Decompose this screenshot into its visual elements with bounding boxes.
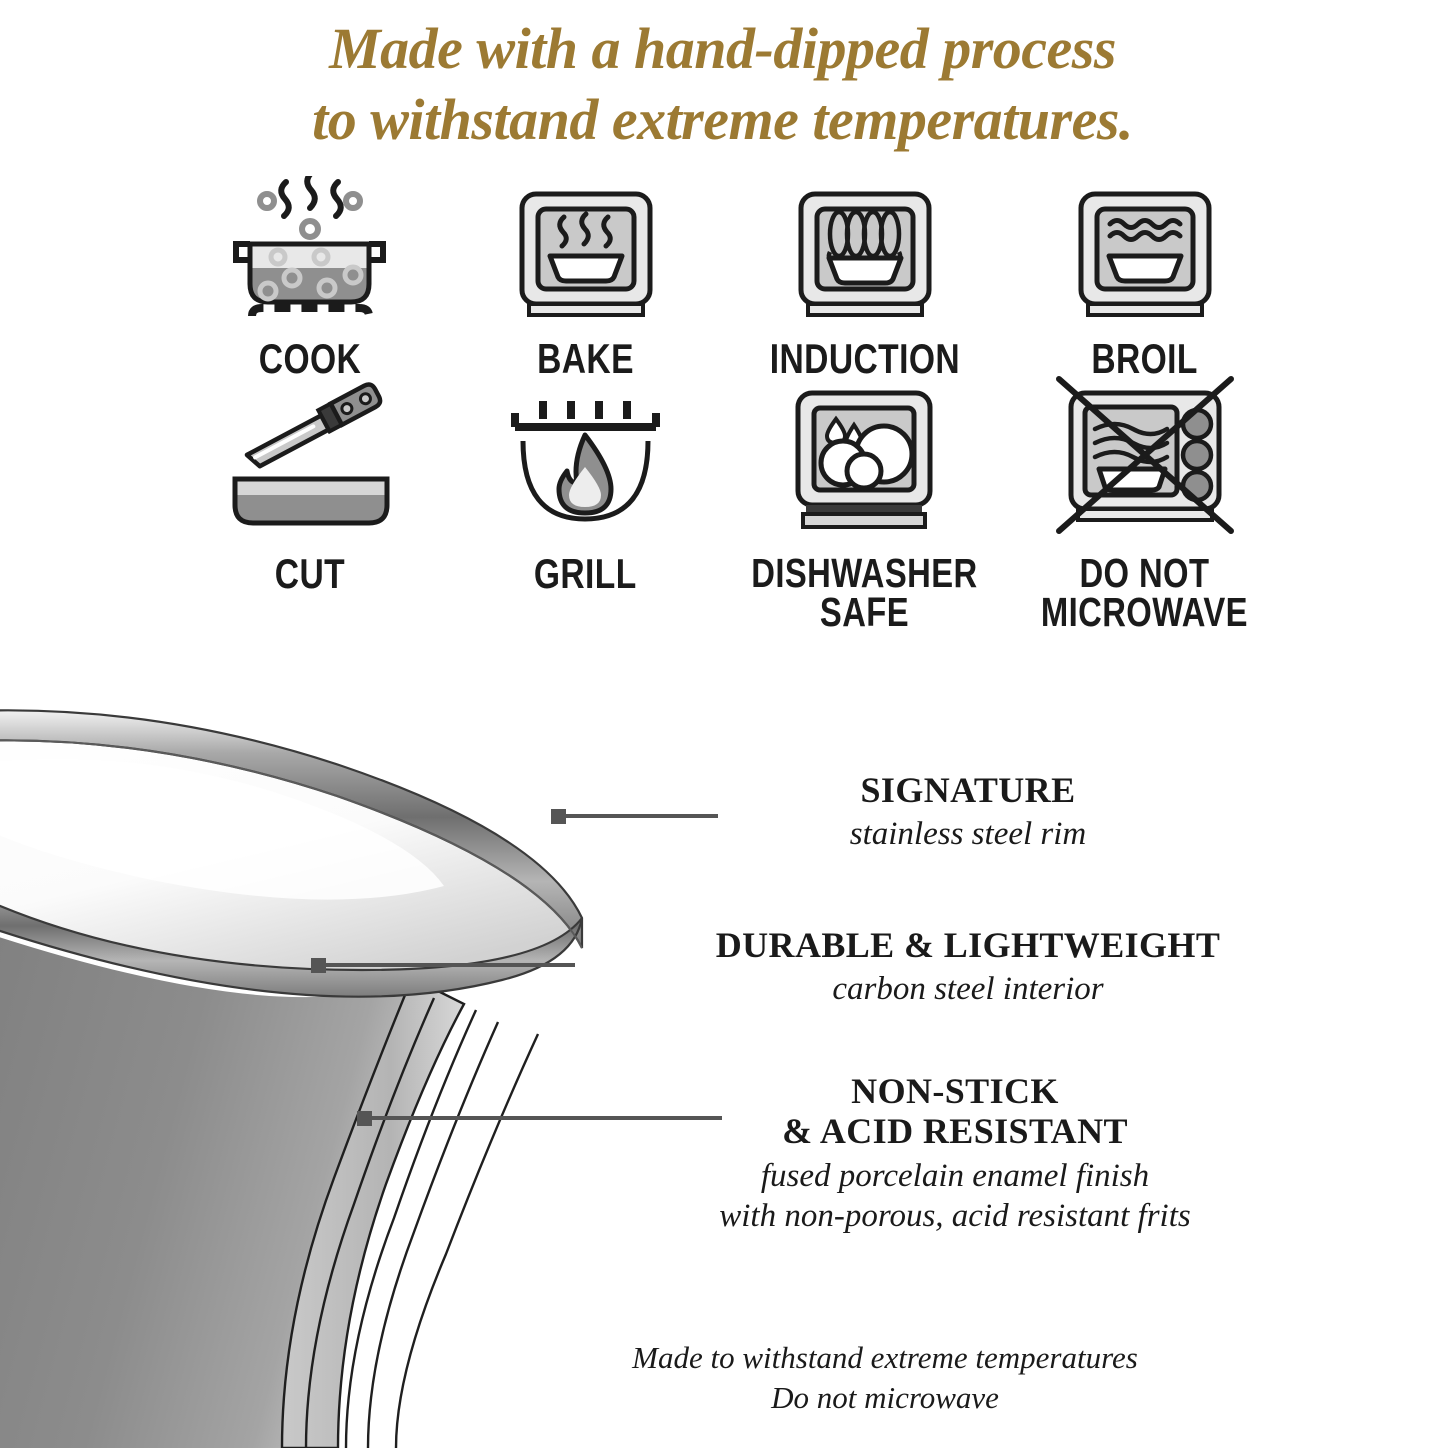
dishwasher-safe-icon bbox=[772, 391, 957, 546]
callout-durable: DURABLE & LIGHTWEIGHT carbon steel inter… bbox=[636, 925, 1300, 1010]
capability-item-do-not-microwave: DO NOT MICROWAVE bbox=[1006, 391, 1282, 641]
callout-nonstick-title-line-1: NON-STICK bbox=[851, 1071, 1059, 1111]
capability-label-cook: COOK bbox=[259, 339, 361, 379]
feature-callouts: SIGNATURE stainless steel rim DURABLE & … bbox=[600, 770, 1300, 1236]
capability-item-broil: BROIL bbox=[1006, 176, 1282, 391]
headline-line-2: to withstand extreme temperatures. bbox=[0, 85, 1445, 156]
capability-item-grill: GRILL bbox=[448, 391, 724, 641]
microwave-label-line-2: MICROWAVE bbox=[1041, 589, 1248, 635]
callout-nonstick-subtitle-line-2: with non-porous, acid resistant frits bbox=[719, 1198, 1191, 1234]
bake-oven-icon bbox=[498, 176, 673, 331]
callout-signature-title: SIGNATURE bbox=[636, 770, 1300, 810]
capability-item-bake: BAKE bbox=[448, 176, 724, 391]
do-not-microwave-icon bbox=[1047, 391, 1242, 546]
broil-element-icon bbox=[1057, 176, 1232, 331]
callout-nonstick-subtitle: fused porcelain enamel finish with non-p… bbox=[610, 1156, 1300, 1237]
headline-line-1: Made with a hand-dipped process bbox=[329, 16, 1116, 81]
capability-label-grill: GRILL bbox=[534, 554, 637, 594]
callout-durable-subtitle: carbon steel interior bbox=[636, 969, 1300, 1009]
callout-durable-title: DURABLE & LIGHTWEIGHT bbox=[636, 925, 1300, 965]
callout-nonstick-title-line-2: & ACID RESISTANT bbox=[782, 1111, 1128, 1151]
capability-item-induction: INDUCTION bbox=[723, 176, 1006, 391]
capability-label-dishwasher-safe: DISHWASHER SAFE bbox=[752, 554, 978, 632]
callout-signature: SIGNATURE stainless steel rim bbox=[636, 770, 1300, 855]
page-title: Made with a hand-dipped process to withs… bbox=[0, 14, 1445, 156]
footer-note: Made to withstand extreme temperatures D… bbox=[520, 1338, 1250, 1417]
capability-label-cut: CUT bbox=[275, 554, 345, 594]
capability-label-induction: INDUCTION bbox=[770, 339, 960, 379]
footer-note-line-1: Made to withstand extreme temperatures bbox=[632, 1340, 1138, 1375]
callout-nonstick-title: NON-STICK & ACID RESISTANT bbox=[610, 1071, 1300, 1152]
capability-label-do-not-microwave: DO NOT MICROWAVE bbox=[1041, 554, 1248, 632]
induction-coil-icon bbox=[777, 176, 952, 331]
dishwasher-label-line-2: SAFE bbox=[820, 589, 909, 635]
footer-note-line-2: Do not microwave bbox=[771, 1380, 999, 1415]
pan-cutaway-illustration bbox=[0, 618, 622, 1448]
capability-item-dishwasher-safe: DISHWASHER SAFE bbox=[723, 391, 1006, 641]
cut-knife-icon bbox=[217, 391, 402, 546]
callout-nonstick-subtitle-line-1: fused porcelain enamel finish bbox=[761, 1158, 1149, 1194]
callout-nonstick: NON-STICK & ACID RESISTANT fused porcela… bbox=[610, 1071, 1300, 1236]
grill-flame-icon bbox=[493, 391, 678, 546]
callout-signature-subtitle: stainless steel rim bbox=[636, 814, 1300, 854]
capability-label-bake: BAKE bbox=[537, 339, 634, 379]
capability-item-cut: CUT bbox=[172, 391, 448, 641]
capability-item-cook: COOK bbox=[172, 176, 448, 391]
capability-icon-grid: COOK BAKE bbox=[172, 176, 1282, 641]
cook-pot-icon bbox=[222, 176, 397, 331]
capability-label-broil: BROIL bbox=[1091, 339, 1198, 379]
